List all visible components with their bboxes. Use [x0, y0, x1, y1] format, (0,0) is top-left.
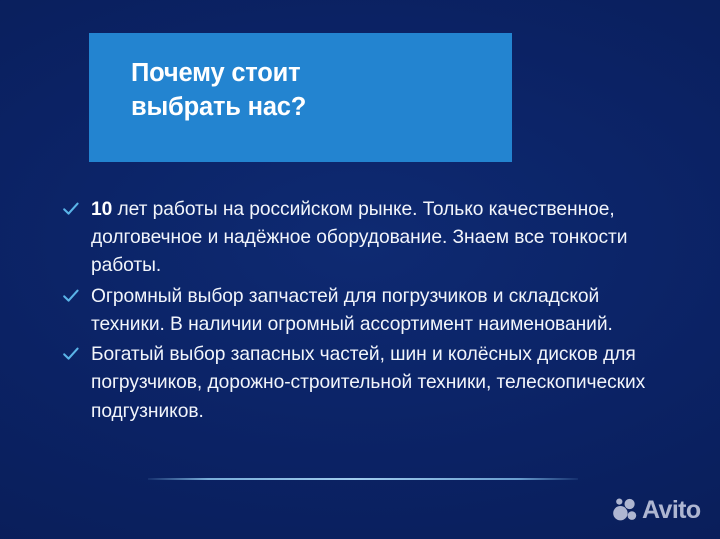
benefits-list: 10 лет работы на российском рынке. Тольк… — [62, 196, 672, 428]
list-item-text: Огромный выбор запчастей для погрузчиков… — [91, 283, 672, 339]
avito-wordmark: Avito — [642, 498, 701, 523]
horizontal-divider — [148, 478, 578, 480]
presentation-slide: Почему стоит выбрать нас? 10 лет работы … — [0, 0, 720, 539]
title-line-1: Почему стоит — [131, 57, 498, 91]
list-item-body: Богатый выбор запасных частей, шин и кол… — [91, 344, 645, 421]
list-item-text: 10 лет работы на российском рынке. Тольк… — [91, 196, 672, 281]
list-item: Богатый выбор запасных частей, шин и кол… — [62, 341, 672, 426]
check-icon — [62, 287, 80, 305]
avito-logo-icon — [612, 497, 638, 523]
check-icon — [62, 200, 80, 218]
list-item: Огромный выбор запчастей для погрузчиков… — [62, 283, 672, 339]
list-item-body: лет работы на российском рынке. Только к… — [91, 199, 627, 276]
list-item-body: Огромный выбор запчастей для погрузчиков… — [91, 286, 613, 335]
avito-watermark: Avito — [612, 497, 701, 523]
list-item: 10 лет работы на российском рынке. Тольк… — [62, 196, 672, 281]
title-line-2: выбрать нас? — [131, 91, 498, 125]
title-banner: Почему стоит выбрать нас? — [89, 33, 512, 162]
list-item-lead: 10 — [91, 199, 112, 220]
check-icon — [62, 345, 80, 363]
list-item-text: Богатый выбор запасных частей, шин и кол… — [91, 341, 672, 426]
page-title: Почему стоит выбрать нас? — [131, 57, 498, 125]
